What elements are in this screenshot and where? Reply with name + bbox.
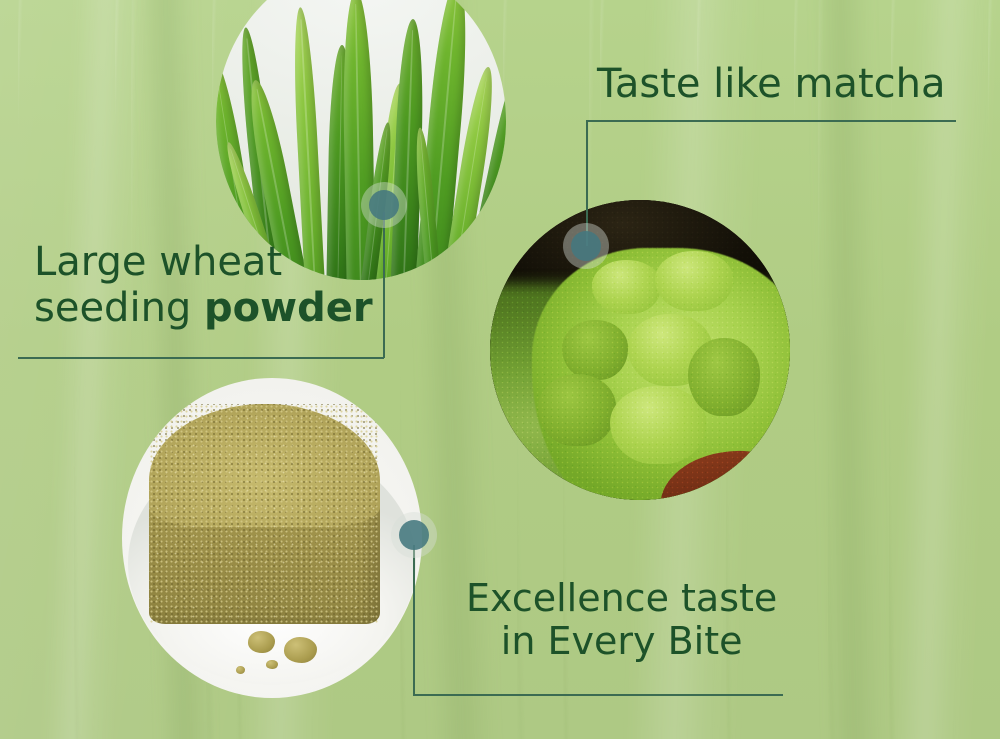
cake-crumb	[248, 631, 275, 653]
callout-line-2: seeding powder	[34, 286, 373, 332]
callout-line-1: Large wheat	[34, 240, 373, 286]
callout-line-2: in Every Bite	[466, 620, 777, 663]
callout-taste-matcha: Taste like matcha	[597, 62, 945, 108]
cake-crumb	[266, 660, 278, 670]
matcha-powder-photo	[490, 200, 790, 500]
callout-line-1: Excellence taste	[466, 577, 777, 620]
marker-center-dot	[399, 520, 429, 550]
marker-center-dot	[369, 190, 399, 220]
feature-graphic-canvas: Large wheat seeding powder Taste like ma…	[0, 0, 1000, 739]
marker-center-dot	[571, 231, 601, 261]
callout-line-1: Taste like matcha	[597, 62, 945, 108]
matcha-cake-photo	[122, 378, 422, 698]
connector-horizontal-segment	[18, 357, 384, 359]
cake-crumb-texture	[149, 404, 380, 625]
callout-wheat-powder: Large wheat seeding powder	[34, 240, 373, 331]
cake-crumb	[236, 666, 245, 674]
connector-horizontal-segment	[413, 694, 783, 696]
connector-horizontal-segment	[586, 120, 956, 122]
connector-vertical-segment	[413, 545, 415, 695]
callout-excellence-taste: Excellence taste in Every Bite	[466, 577, 777, 664]
callout-line-2-emphasis: powder	[204, 285, 373, 331]
callout-line-2-normal: seeding	[34, 285, 204, 331]
cake-crumb	[284, 637, 317, 663]
cake-slice	[149, 404, 380, 625]
connector-vertical-segment	[383, 212, 385, 358]
wheatgrass-photo	[216, 0, 506, 280]
matcha-grain-texture	[490, 200, 790, 500]
